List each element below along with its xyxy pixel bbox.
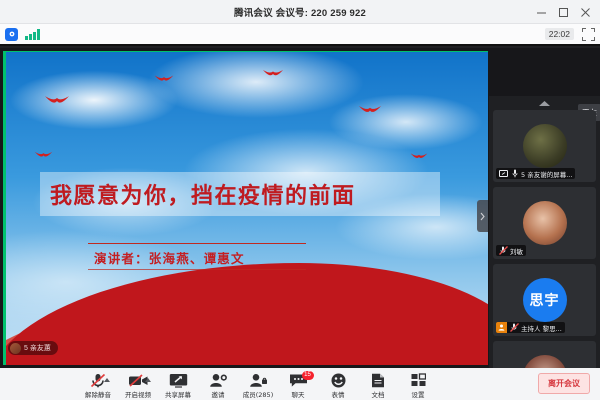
members-button[interactable]: 成员(285) xyxy=(238,370,278,399)
members-icon xyxy=(249,373,268,388)
avatar xyxy=(523,201,567,245)
slide-subtitle: 演讲者：张海燕、谭惠文 xyxy=(94,248,245,267)
video-toggle-button[interactable]: 开启视频 xyxy=(118,370,158,399)
bird-icon xyxy=(44,94,70,107)
microphone-muted-icon xyxy=(510,323,519,332)
bird-icon xyxy=(358,104,382,116)
list-item[interactable]: 5 亲友谢的屏幕... xyxy=(493,110,596,182)
chevron-right-icon[interactable] xyxy=(477,200,488,232)
toolbar-item-label: 聊天 xyxy=(292,389,305,399)
status-badge: 15 xyxy=(302,371,314,380)
share-screen-icon xyxy=(169,373,188,388)
settings-button[interactable]: 设置 xyxy=(398,370,438,399)
chevron-up-icon[interactable] xyxy=(104,378,110,382)
toolbar-item-label: 开启视频 xyxy=(125,389,151,399)
minimize-icon[interactable] xyxy=(530,1,552,23)
bird-icon xyxy=(410,152,428,161)
share-screen-icon xyxy=(499,169,508,178)
close-icon[interactable] xyxy=(574,1,596,23)
participant-rail[interactable]: 正在 5 亲友谢的屏幕... xyxy=(489,96,600,400)
fullscreen-icon[interactable] xyxy=(582,28,595,41)
toolbar-item-label: 邀请 xyxy=(212,389,225,399)
chat-icon: 15 xyxy=(289,373,308,388)
toolbar-item-label: 共享屏幕 xyxy=(165,389,191,399)
shared-screen-stage[interactable]: 我愿意为你，挡在疫情的前面 演讲者：张海燕、谭惠文 5 亲友蕙 xyxy=(3,51,488,365)
toolbar-item-label: 成员(285) xyxy=(243,389,273,399)
list-item[interactable]: 思宇 主持人 黎思... xyxy=(493,264,596,336)
subbar-right-group: 22:02 xyxy=(545,28,595,41)
document-icon xyxy=(371,373,385,388)
clock-label: 22:02 xyxy=(545,28,574,40)
meeting-body: 我愿意为你，挡在疫情的前面 演讲者：张海燕、谭惠文 5 亲友蕙 正在 xyxy=(0,48,600,368)
participant-name: 5 亲友谢的屏幕... xyxy=(521,169,572,179)
microphone-icon xyxy=(510,169,519,178)
participant-label: 刘敏 xyxy=(496,245,526,256)
toolbar-item-label: 设置 xyxy=(412,389,425,399)
slide-divider-top xyxy=(88,243,306,244)
toolbar-items: 解除静音 开启视频 共享屏幕 邀请 xyxy=(78,370,438,399)
invite-user-icon xyxy=(209,373,228,388)
signal-bars-icon[interactable] xyxy=(25,29,40,40)
emoji-icon xyxy=(331,373,346,388)
status-subbar: 22:02 xyxy=(0,24,600,46)
bird-icon xyxy=(34,150,53,160)
camera-muted-icon xyxy=(128,373,149,388)
self-video-nametag: 5 亲友蕙 xyxy=(8,341,58,355)
avatar xyxy=(10,343,21,354)
window-titlebar: 腾讯会议 会议号: 220 259 922 xyxy=(0,0,600,24)
leave-meeting-button[interactable]: 离开会议 xyxy=(538,373,590,394)
participant-name: 主持人 黎思... xyxy=(521,323,562,333)
list-item[interactable]: 刘敏 xyxy=(493,187,596,259)
host-badge-icon xyxy=(496,322,507,333)
bird-icon xyxy=(262,68,284,79)
self-name-label: 5 亲友蕙 xyxy=(24,343,51,353)
mute-toggle-button[interactable]: 解除静音 xyxy=(78,370,118,399)
emoji-button[interactable]: 表情 xyxy=(318,370,358,399)
shield-icon[interactable] xyxy=(5,28,18,41)
chevron-up-icon[interactable] xyxy=(145,378,151,382)
chat-button[interactable]: 15 聊天 xyxy=(278,370,318,399)
microphone-muted-icon xyxy=(499,246,508,255)
toolbar-item-label: 表情 xyxy=(332,389,345,399)
avatar xyxy=(523,124,567,168)
invite-button[interactable]: 邀请 xyxy=(198,370,238,399)
slide-title-banner: 我愿意为你，挡在疫情的前面 xyxy=(40,172,440,216)
toolbar-item-label: 解除静音 xyxy=(85,389,111,399)
bird-icon xyxy=(154,74,174,84)
avatar: 思宇 xyxy=(523,278,567,322)
participant-label: 5 亲友谢的屏幕... xyxy=(496,168,575,179)
microphone-muted-icon xyxy=(88,373,108,388)
page-title: 腾讯会议 会议号: 220 259 922 xyxy=(0,5,600,19)
share-screen-button[interactable]: 共享屏幕 xyxy=(158,370,198,399)
document-button[interactable]: 文档 xyxy=(358,370,398,399)
maximize-icon[interactable] xyxy=(552,1,574,23)
toolbar-item-label: 文档 xyxy=(372,389,385,399)
participant-name: 刘敏 xyxy=(510,246,523,256)
participant-tiles: 5 亲友谢的屏幕... 刘敏 思宇 xyxy=(493,110,596,400)
meeting-toolbar: 解除静音 开启视频 共享屏幕 邀请 xyxy=(0,368,600,400)
slide-divider-bottom xyxy=(88,269,306,270)
slide-title: 我愿意为你，挡在疫情的前面 xyxy=(50,178,430,210)
settings-grid-icon xyxy=(411,373,426,388)
window-controls xyxy=(530,0,596,24)
participant-label: 主持人 黎思... xyxy=(496,322,565,333)
tencent-meeting-window: 腾讯会议 会议号: 220 259 922 22:02 xyxy=(0,0,600,400)
